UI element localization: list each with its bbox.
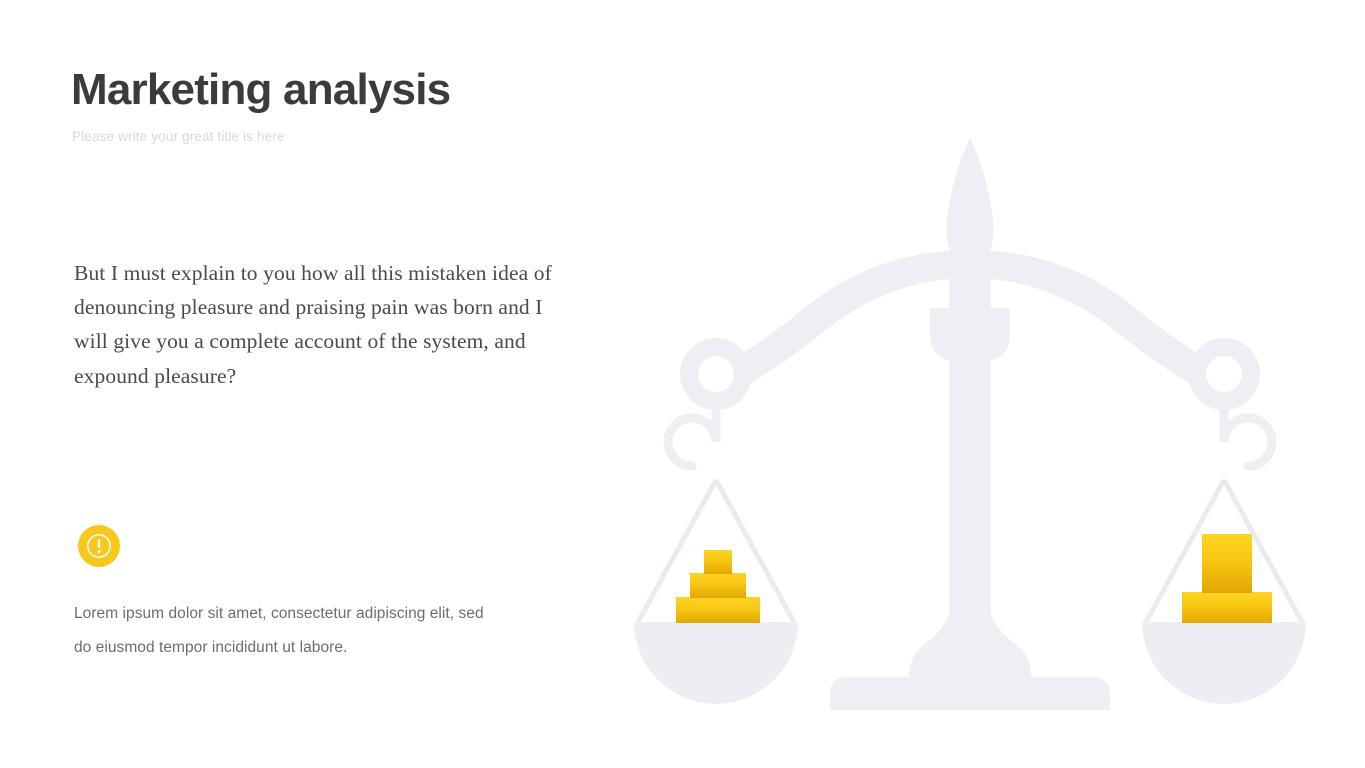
left-hook xyxy=(668,408,716,466)
page-subtitle: Please write your great title is here xyxy=(72,128,285,146)
slide-canvas: Marketing analysis Please write your gre… xyxy=(0,0,1365,768)
left-pan xyxy=(634,622,798,704)
balance-scale-illustration xyxy=(620,130,1320,710)
exclamation-circle-icon xyxy=(78,525,120,567)
page-title: Marketing analysis xyxy=(71,64,450,116)
caption-paragraph: Lorem ipsum dolor sit amet, consectetur … xyxy=(74,597,504,665)
left-content-column: Marketing analysis Please write your gre… xyxy=(71,0,611,768)
right-pan xyxy=(1142,622,1306,704)
left-pan-weights xyxy=(676,550,760,623)
scale-frame xyxy=(634,138,1306,710)
lead-paragraph: But I must explain to you how all this m… xyxy=(74,256,579,393)
right-beam-ring-hole xyxy=(1206,356,1242,392)
right-hook xyxy=(1224,408,1272,466)
left-beam-ring-hole xyxy=(698,356,734,392)
scale-collar xyxy=(930,308,1010,360)
